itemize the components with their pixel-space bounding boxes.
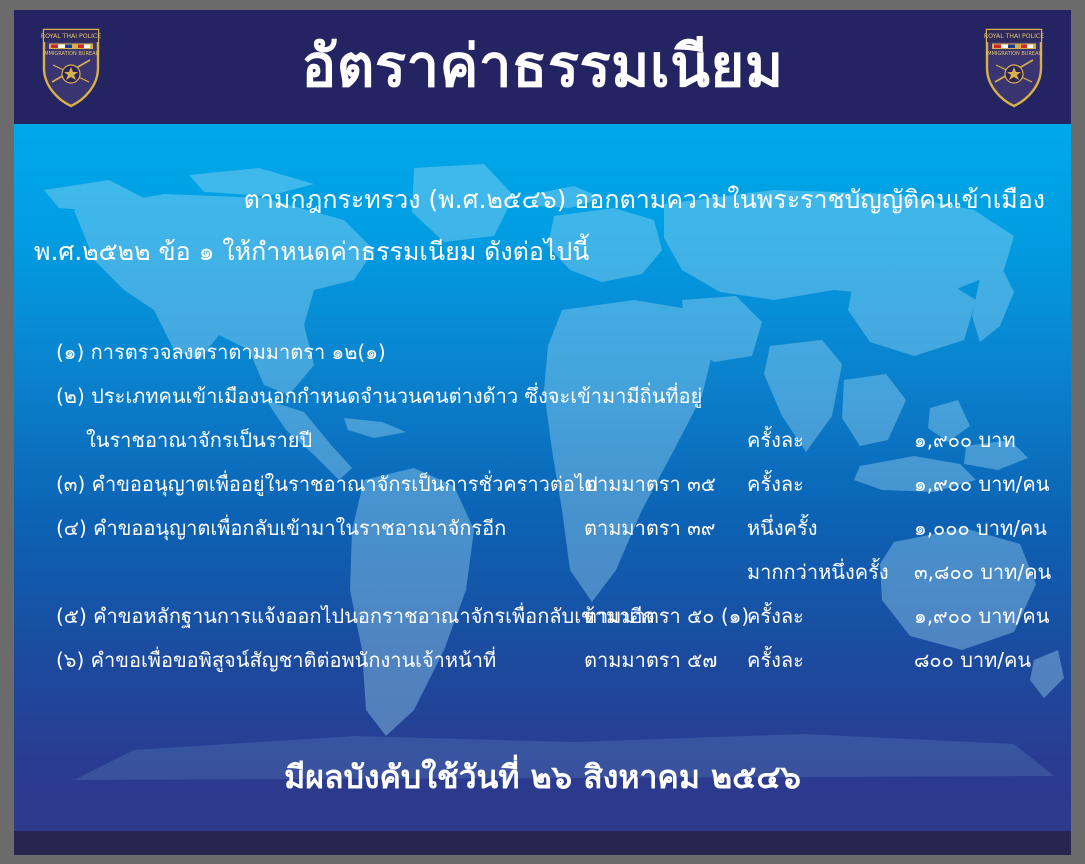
fee-amount: ๑,๙๐๐ บาท/คน (914, 594, 1049, 638)
intro-line-1: ตามกฎกระทรวง (พ.ศ.๒๕๔๖) ออกตามความในพระร… (26, 174, 1049, 226)
intro-line-2: พ.ศ.๒๕๒๒ ข้อ ๑ ให้กำหนดค่าธรรมเนียม ดังต… (26, 226, 1049, 278)
fee-amount: ๓,๘๐๐ บาท/คน (914, 550, 1051, 594)
royal-thai-police-immigration-bureau-badge-left: ROYAL THAI POLICE IMMIGRATION BUREAU (40, 24, 102, 110)
fee-description: (๓) คำขออนุญาตเพื่ออยู่ในราชอาณาจักรเป็น… (56, 462, 598, 506)
table-row: ในราชอาณาจักรเป็นรายปี ครั้งละ ๑,๙๐๐ บาท (14, 418, 1071, 462)
fee-section: ตามมาตรา ๕๗ (584, 638, 717, 682)
fee-description: (๔) คำขออนุญาตเพื่อกลับเข้ามาในราชอาณาจั… (56, 506, 506, 550)
fee-description: (๕) คำขอหลักฐานการแจ้งออกไปนอกราชอาณาจัก… (56, 594, 655, 638)
fee-unit: หนึ่งครั้ง (747, 506, 818, 550)
fee-unit: ครั้งละ (747, 594, 804, 638)
table-row: มากกว่าหนึ่งครั้ง ๓,๘๐๐ บาท/คน (14, 550, 1071, 594)
table-row: (๕) คำขอหลักฐานการแจ้งออกไปนอกราชอาณาจัก… (14, 594, 1071, 638)
table-row: (๓) คำขออนุญาตเพื่ออยู่ในราชอาณาจักรเป็น… (14, 462, 1071, 506)
fee-description: (๖) คำขอเพื่อขอพิสูจน์สัญชาติต่อพนักงานเ… (56, 638, 496, 682)
fee-unit: ครั้งละ (747, 638, 804, 682)
table-row: (๔) คำขออนุญาตเพื่อกลับเข้ามาในราชอาณาจั… (14, 506, 1071, 550)
fee-amount: ๑,๙๐๐ บาท (914, 418, 1016, 462)
badge-mid-text: IMMIGRATION BUREAU (986, 51, 1043, 57)
poster-header: อัตราค่าธรรมเนียม (14, 10, 1071, 124)
fee-rate-poster: อัตราค่าธรรมเนียม (14, 10, 1071, 855)
fee-section: ตามมาตรา ๓๙ (584, 506, 715, 550)
badge-mid-text: IMMIGRATION BUREAU (43, 51, 100, 57)
table-row: (๒) ประเภทคนเข้าเมืองนอกกำหนดจำนวนคนต่าง… (14, 374, 1071, 418)
bottom-band (14, 831, 1071, 855)
fee-description: (๑) การตรวจลงตราตามมาตรา ๑๒(๑) (56, 330, 386, 374)
fee-section: ตามมาตรา ๕๐ (๑) (584, 594, 749, 638)
fee-amount: ๘๐๐ บาท/คน (914, 638, 1031, 682)
page-title: อัตราค่าธรรมเนียม (14, 37, 1071, 95)
fee-rate-table: (๑) การตรวจลงตราตามมาตรา ๑๒(๑) (๒) ประเภ… (14, 330, 1071, 682)
intro-paragraph: ตามกฎกระทรวง (พ.ศ.๒๕๔๖) ออกตามความในพระร… (14, 174, 1071, 278)
table-row: (๖) คำขอเพื่อขอพิสูจน์สัญชาติต่อพนักงานเ… (14, 638, 1071, 682)
fee-unit: ครั้งละ (747, 418, 804, 462)
badge-top-text: ROYAL THAI POLICE (41, 33, 101, 40)
poster-body: ตามกฎกระทรวง (พ.ศ.๒๕๔๖) ออกตามความในพระร… (14, 124, 1071, 831)
fee-amount: ๑,๙๐๐ บาท/คน (914, 462, 1049, 506)
fee-unit: ครั้งละ (747, 462, 804, 506)
fee-description: ในราชอาณาจักรเป็นรายปี (86, 418, 312, 462)
fee-description: (๒) ประเภทคนเข้าเมืองนอกกำหนดจำนวนคนต่าง… (56, 374, 702, 418)
effective-date-text: มีผลบังคับใช้วันที่ ๒๖ สิงหาคม ๒๕๔๖ (14, 752, 1071, 803)
fee-amount: ๑,๐๐๐ บาท/คน (914, 506, 1047, 550)
fee-section: ตามมาตรา ๓๕ (584, 462, 716, 506)
table-row: (๑) การตรวจลงตราตามมาตรา ๑๒(๑) (14, 330, 1071, 374)
poster-outer-frame: อัตราค่าธรรมเนียม (0, 0, 1085, 864)
fee-unit: มากกว่าหนึ่งครั้ง (747, 550, 889, 594)
badge-top-text: ROYAL THAI POLICE (984, 33, 1044, 40)
royal-thai-police-immigration-bureau-badge-right: ROYAL THAI POLICE IMMIGRATION BUREAU (983, 24, 1045, 110)
